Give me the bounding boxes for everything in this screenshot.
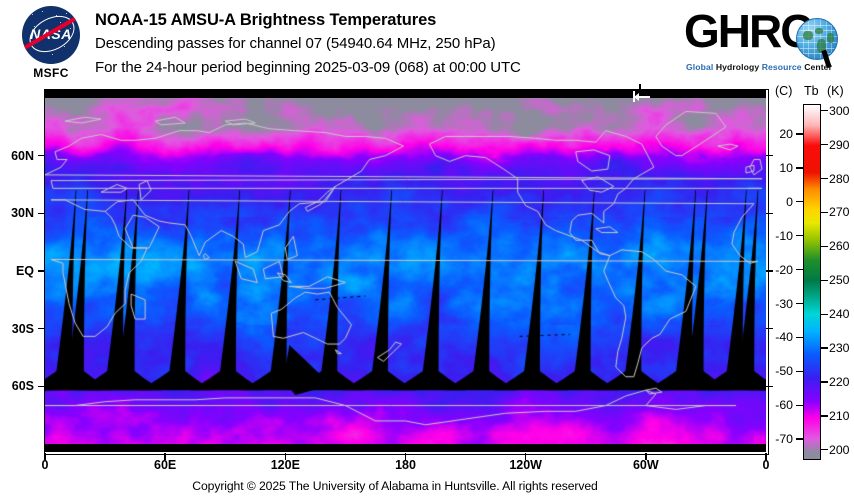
colorbar[interactable] [803, 104, 821, 460]
colorbar-label-celsius: -60 [760, 398, 793, 412]
x-axis-label: 60W [633, 458, 659, 472]
colorbar-tick-celsius [796, 303, 803, 304]
brightness-temperature-raster [45, 98, 766, 444]
colorbar-tick-kelvin [821, 144, 828, 145]
colorbar-tick-kelvin [821, 212, 828, 213]
map-image [45, 98, 766, 444]
x-axis-label: 60E [154, 458, 176, 472]
colorbar-label-kelvin: 250 [829, 273, 850, 287]
nasa-center-label: MSFC [14, 66, 88, 80]
y-axis-label: 30N [0, 206, 34, 220]
y-axis-tick [38, 328, 45, 329]
colorbar-unit-kelvin: (K) [827, 84, 844, 98]
y-axis-tick-right [766, 328, 773, 329]
globe-longitude-line [814, 19, 815, 59]
colorbar-unit-celsius: (C) [775, 84, 792, 98]
colorbar-label-kelvin: 270 [829, 205, 850, 219]
colorbar-tick-kelvin [821, 347, 828, 348]
ghrc-tagline: Global Hydrology Resource Center [686, 62, 844, 72]
ghrc-tagline-word: Resource [762, 62, 804, 72]
y-axis-label: 60S [0, 379, 34, 393]
colorbar-tick-celsius [796, 438, 803, 439]
colorbar-tick-kelvin [821, 449, 828, 450]
colorbar-label-celsius: -70 [760, 432, 793, 446]
colorbar-label-kelvin: 300 [829, 104, 850, 118]
colorbar-label-celsius: -30 [760, 297, 793, 311]
colorbar-label-celsius: -20 [760, 263, 793, 277]
colorbar-tick-celsius [796, 269, 803, 270]
colorbar-gradient [804, 105, 820, 459]
colorbar-label-kelvin: 220 [829, 375, 850, 389]
colorbar-label-kelvin: 240 [829, 307, 850, 321]
x-axis-label: 180 [395, 458, 416, 472]
colorbar-tick-celsius [796, 133, 803, 134]
page-title: NOAA-15 AMSU-A Brightness Temperatures [95, 8, 675, 32]
colorbar-tick-celsius [796, 371, 803, 372]
globe-landmass [815, 28, 823, 34]
nasa-star [52, 54, 53, 55]
subtitle-period: For the 24-hour period beginning 2025-03… [95, 56, 675, 80]
ghrc-tagline-word: Center [804, 62, 832, 72]
screenshot-root: NASA MSFC NOAA-15 AMSU-A Brightness Temp… [0, 0, 854, 502]
y-axis-label: 60N [0, 149, 34, 163]
ghrc-logo: GHRC Global Hydrology Resource Center [684, 6, 844, 80]
colorbar-label-celsius: -40 [760, 330, 793, 344]
x-axis-label: 0 [42, 458, 49, 472]
colorbar-tick-kelvin [821, 415, 828, 416]
colorbar-tick-celsius [796, 405, 803, 406]
colorbar-label-celsius: 0 [760, 195, 793, 209]
colorbar-label-kelvin: 230 [829, 341, 850, 355]
colorbar-tick-celsius [796, 337, 803, 338]
ghrc-tagline-word: Global [686, 62, 716, 72]
colorbar-tick-celsius [796, 167, 803, 168]
map-plot-area[interactable] [45, 90, 766, 452]
nasa-star [32, 14, 33, 15]
colorbar-tick-celsius [796, 235, 803, 236]
subtitle-channel: Descending passes for channel 07 (54940.… [95, 32, 675, 56]
x-axis-label: 120W [509, 458, 542, 472]
nasa-star [64, 46, 65, 47]
colorbar-header: (C) Tb (K) [775, 84, 854, 100]
globe-landmass [803, 31, 813, 40]
colorbar-label-celsius: -10 [760, 229, 793, 243]
colorbar-label-celsius: 20 [760, 127, 793, 141]
colorbar-tick-kelvin [821, 280, 828, 281]
x-axis-label: 0 [763, 458, 770, 472]
y-axis-tick-right [766, 155, 773, 156]
colorbar-tick-kelvin [821, 381, 828, 382]
nasa-meatball-icon: NASA [22, 6, 80, 64]
y-axis-tick [38, 155, 45, 156]
colorbar-tick-celsius [796, 201, 803, 202]
colorbar-tick-kelvin [821, 314, 828, 315]
colorbar-label-kelvin: 260 [829, 239, 850, 253]
colorbar-label-celsius: 10 [760, 161, 793, 175]
colorbar-label-kelvin: 290 [829, 138, 850, 152]
x-axis-label: 120E [271, 458, 300, 472]
y-axis-tick [38, 386, 45, 387]
y-axis-tick [38, 213, 45, 214]
y-axis-tick [38, 270, 45, 271]
y-axis-label: EQ [0, 264, 34, 278]
nasa-star [42, 11, 43, 12]
y-axis-tick-right [766, 213, 773, 214]
globe-landmass [827, 33, 834, 43]
title-block: NOAA-15 AMSU-A Brightness Temperatures D… [95, 8, 675, 80]
header: NASA MSFC NOAA-15 AMSU-A Brightness Temp… [0, 0, 854, 88]
colorbar-label-kelvin: 280 [829, 172, 850, 186]
colorbar-tick-kelvin [821, 110, 828, 111]
nasa-star [66, 13, 67, 14]
ghrc-tagline-word: Hydrology [716, 62, 762, 72]
colorbar-quantity: Tb [804, 84, 819, 98]
colorbar-tick-kelvin [821, 178, 828, 179]
colorbar-label-kelvin: 210 [829, 409, 850, 423]
colorbar-label-kelvin: 200 [829, 443, 850, 457]
copyright-text: Copyright © 2025 The University of Alaba… [0, 479, 790, 493]
nasa-logo: NASA MSFC [14, 6, 86, 84]
y-axis-label: 30S [0, 322, 34, 336]
ghrc-globe-icon [796, 18, 838, 60]
colorbar-tick-kelvin [821, 246, 828, 247]
ascending-node-marker-icon [633, 91, 651, 103]
colorbar-label-celsius: -50 [760, 364, 793, 378]
y-axis-tick-right [766, 386, 773, 387]
